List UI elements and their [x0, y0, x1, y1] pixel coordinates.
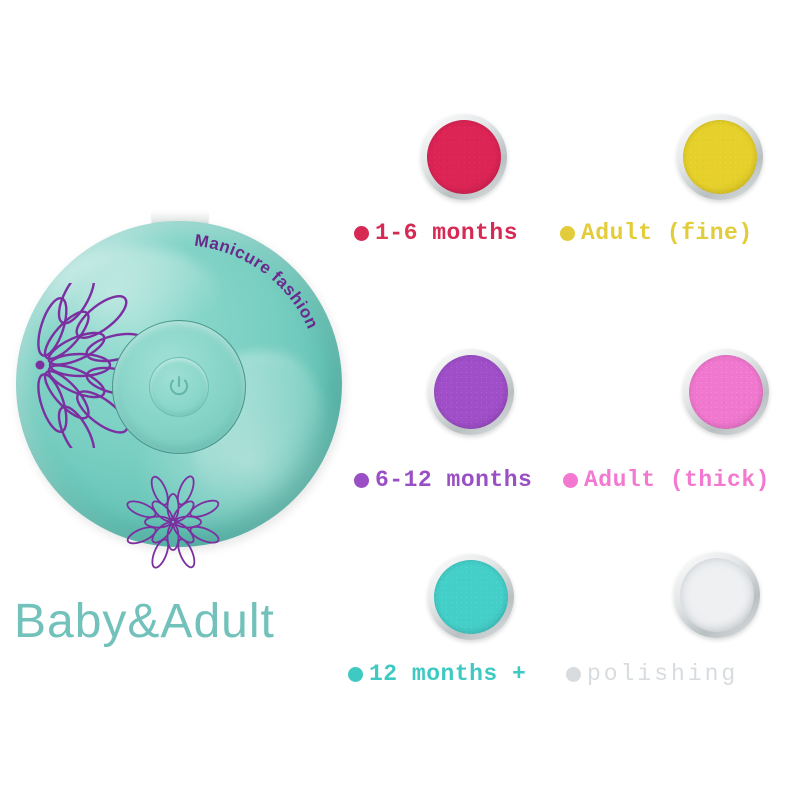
- disc-pad: [427, 120, 501, 194]
- device-center-dish: [112, 320, 246, 454]
- disc-rim: [421, 114, 507, 200]
- legend-label: Adult (fine): [581, 222, 753, 245]
- legend-6-12-months: 6-12 months: [354, 469, 532, 492]
- disc-pad: [680, 558, 754, 632]
- device-brand-label: Manicure fashion: [193, 231, 322, 332]
- disc-pad: [434, 560, 508, 634]
- attachment-disc-12-months-plus[interactable]: [428, 554, 514, 640]
- legend-label: polishing: [587, 663, 738, 686]
- legend-label: 12 months +: [369, 663, 526, 686]
- disc-pad: [689, 355, 763, 429]
- legend-label: 6-12 months: [375, 469, 532, 492]
- disc-rim: [683, 349, 769, 435]
- power-button[interactable]: [149, 357, 209, 417]
- legend-label: 1-6 months: [375, 222, 518, 245]
- disc-pad: [683, 120, 757, 194]
- attachment-disc-adult-fine[interactable]: [677, 114, 763, 200]
- device-body: Manicure fashion: [16, 221, 342, 547]
- legend-1-6-months: 1-6 months: [354, 222, 518, 245]
- attachment-disc-1-6-months[interactable]: [421, 114, 507, 200]
- disc-pad: [434, 355, 508, 429]
- disc-rim: [674, 552, 760, 638]
- product-image-canvas: Manicure fashion: [0, 0, 800, 800]
- attachment-disc-6-12-months[interactable]: [428, 349, 514, 435]
- attachment-disc-polishing[interactable]: [674, 552, 760, 638]
- attachment-disc-adult-thick[interactable]: [683, 349, 769, 435]
- power-icon: [166, 374, 192, 400]
- legend-bullet-icon: [354, 473, 369, 488]
- flower-pattern-small-icon: [120, 469, 226, 575]
- legend-12-months-plus: 12 months +: [348, 663, 526, 686]
- legend-bullet-icon: [566, 667, 581, 682]
- legend-adult-fine: Adult (fine): [560, 222, 753, 245]
- legend-bullet-icon: [348, 667, 363, 682]
- legend-polishing: polishing: [566, 663, 738, 686]
- manicure-device: Manicure fashion: [8, 205, 348, 555]
- disc-rim: [677, 114, 763, 200]
- legend-bullet-icon: [354, 226, 369, 241]
- legend-adult-thick: Adult (thick): [563, 469, 770, 492]
- product-caption: Baby&Adult: [14, 594, 275, 649]
- disc-rim: [428, 349, 514, 435]
- legend-label: Adult (thick): [584, 469, 770, 492]
- legend-bullet-icon: [560, 226, 575, 241]
- svg-text:Manicure fashion: Manicure fashion: [193, 231, 322, 332]
- legend-bullet-icon: [563, 473, 578, 488]
- disc-rim: [428, 554, 514, 640]
